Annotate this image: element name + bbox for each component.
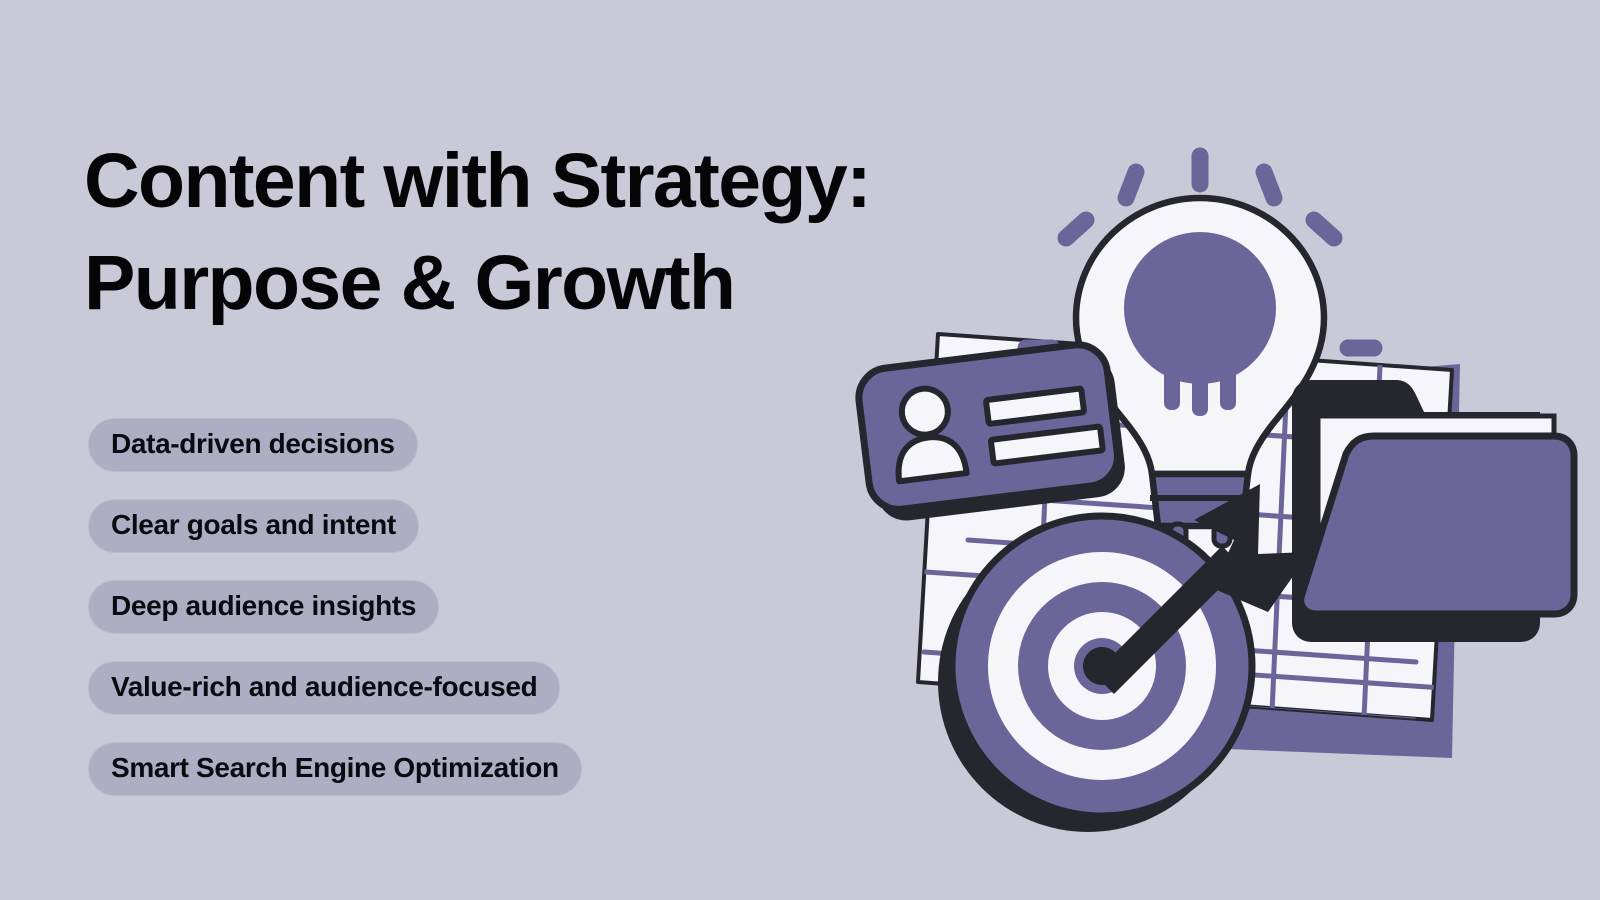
headline-line-2: Purpose & Growth bbox=[84, 232, 844, 334]
slide-canvas: Content with Strategy: Purpose & Growth … bbox=[0, 0, 1600, 900]
benefit-pill-label: Deep audience insights bbox=[111, 590, 416, 622]
benefit-pill-label: Clear goals and intent bbox=[111, 509, 396, 541]
page-title: Content with Strategy: Purpose & Growth bbox=[84, 130, 844, 335]
headline-line-1: Content with Strategy: bbox=[84, 130, 844, 232]
headline-block: Content with Strategy: Purpose & Growth bbox=[84, 130, 844, 335]
folder-icon bbox=[1292, 380, 1574, 642]
benefit-pill-value-rich-and-audience-focused[interactable]: Value-rich and audience-focused bbox=[88, 661, 560, 715]
benefit-pill-label: Data-driven decisions bbox=[111, 428, 395, 460]
content-strategy-illustration bbox=[840, 110, 1540, 810]
benefit-pill-clear-goals-and-intent[interactable]: Clear goals and intent bbox=[88, 499, 419, 553]
benefit-pill-smart-search-engine-optimization[interactable]: Smart Search Engine Optimization bbox=[88, 742, 582, 796]
folder-front-flap bbox=[1301, 436, 1574, 614]
benefit-pill-label: Smart Search Engine Optimization bbox=[111, 752, 559, 784]
benefit-pill-list: Data-driven decisions Clear goals and in… bbox=[88, 418, 582, 796]
id-card-icon bbox=[855, 341, 1128, 525]
benefit-pill-data-driven-decisions[interactable]: Data-driven decisions bbox=[88, 418, 418, 472]
benefit-pill-label: Value-rich and audience-focused bbox=[111, 671, 537, 703]
benefit-pill-deep-audience-insights[interactable]: Deep audience insights bbox=[88, 580, 439, 634]
